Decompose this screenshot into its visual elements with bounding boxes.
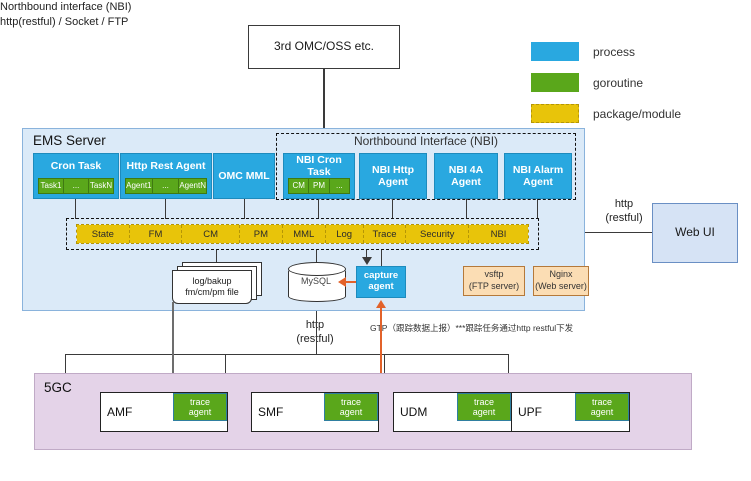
connector-modules-to-mysql — [316, 250, 317, 262]
capture-agent-box[interactable]: capture agent — [356, 266, 406, 298]
connector-httprest-to-modules — [165, 199, 166, 219]
network-function-upf[interactable]: UPF trace agent — [511, 392, 630, 432]
goroutine-agentn: AgentN — [178, 178, 207, 194]
connector-bus-horizontal — [65, 354, 509, 355]
process-nbi-alarm-agent-title: NBI Alarm Agent — [505, 154, 571, 198]
arrow-down-capture-icon — [362, 257, 372, 265]
connector-omcmml-to-modules — [244, 199, 245, 219]
process-nbi-cron-task[interactable]: NBI Cron Task CM PM ... — [283, 153, 355, 199]
trace-agent-upf[interactable]: trace agent — [575, 393, 629, 421]
trace-agent-amf-line2: agent — [189, 407, 212, 417]
legend-item-goroutine: goroutine — [531, 73, 731, 92]
http-restful-middle-line1: http — [290, 318, 340, 332]
connector-nbi4a-to-modules — [466, 199, 467, 219]
third-party-omc-oss-label: 3rd OMC/OSS etc. — [274, 40, 374, 54]
database-cylinder-top — [288, 262, 346, 276]
http-restful-middle-line2: (restful) — [290, 332, 340, 346]
http-restful-middle-label: http (restful) — [290, 318, 340, 347]
network-function-smf-label: SMF — [258, 405, 283, 419]
network-function-smf[interactable]: SMF trace agent — [251, 392, 379, 432]
goroutine-nbi-ellipsis: ... — [329, 178, 350, 194]
trace-agent-upf-line2: agent — [591, 407, 614, 417]
network-function-udm[interactable]: UDM trace agent — [393, 392, 512, 432]
cron-task-goroutines: Task1 ... TaskN — [38, 178, 114, 194]
connector-trace-up-stem — [380, 307, 382, 375]
connector-nbicron-to-modules — [318, 199, 319, 219]
legend-label-goroutine: goroutine — [593, 76, 643, 90]
webui-edge-line2: (restful) — [600, 211, 648, 225]
core-network-title: 5GC — [44, 380, 72, 395]
connector-omc-to-ems — [323, 69, 325, 128]
trace-agent-udm-line2: agent — [473, 407, 496, 417]
process-cron-task[interactable]: Cron Task Task1 ... TaskN — [33, 153, 119, 199]
module-security[interactable]: Security — [406, 225, 469, 243]
trace-agent-smf[interactable]: trace agent — [324, 393, 378, 421]
goroutine-agent1: Agent1 — [125, 178, 152, 194]
module-cm[interactable]: CM — [182, 225, 240, 243]
legend-item-package: package/module — [531, 104, 731, 123]
connector-capture-to-mysql — [346, 281, 356, 283]
third-party-omc-oss-box: 3rd OMC/OSS etc. — [248, 25, 400, 69]
module-nbi[interactable]: NBI — [469, 225, 528, 243]
nginx-server-box: Nginx (Web server) — [533, 266, 589, 296]
module-mml[interactable]: MML — [283, 225, 326, 243]
web-ui-label: Web UI — [675, 226, 715, 240]
web-ui-box[interactable]: Web UI — [652, 203, 738, 263]
webui-edge-label: http (restful) — [600, 197, 648, 226]
process-nbi-cron-task-title: NBI Cron Task — [284, 157, 354, 175]
mysql-database-icon: MySQL — [288, 262, 344, 304]
trace-agent-udm-line1: trace — [474, 397, 494, 407]
trace-agent-udm[interactable]: trace agent — [457, 393, 511, 421]
trace-agent-smf-line1: trace — [341, 397, 361, 407]
connector-modules-to-files — [216, 250, 217, 262]
process-omc-mml[interactable]: OMC MML — [213, 153, 275, 199]
file-sheet-front-icon: log/bakup fm/cm/pm file — [172, 270, 252, 304]
network-function-upf-label: UPF — [518, 405, 542, 419]
nbi-edge-label-line1: Northbound interface (NBI) — [0, 0, 751, 15]
connector-cron-to-modules — [75, 199, 76, 219]
module-log[interactable]: Log — [326, 225, 364, 243]
goroutine-agent-ellipsis: ... — [152, 178, 179, 194]
webui-edge-line1: http — [600, 197, 648, 211]
vsftp-server-box: vsftp (FTP server) — [463, 266, 525, 296]
connector-nbihttp-to-modules — [392, 199, 393, 219]
legend: process goroutine package/module — [531, 42, 731, 135]
gtp-label: GTP（跟踪数据上报）***跟踪任务通过http restful下发 — [370, 322, 573, 334]
process-nbi-4a-agent[interactable]: NBI 4A Agent — [434, 153, 498, 199]
module-fm[interactable]: FM — [130, 225, 183, 243]
connector-modules-to-capture — [381, 250, 382, 266]
arrow-left-mysql-icon — [338, 277, 346, 287]
connector-nbialarm-to-modules — [537, 199, 538, 219]
legend-item-process: process — [531, 42, 731, 61]
vsftp-line1: vsftp — [484, 269, 503, 281]
nginx-line2: (Web server) — [535, 281, 587, 293]
module-pm[interactable]: PM — [240, 225, 283, 243]
network-function-amf[interactable]: AMF trace agent — [100, 392, 228, 432]
goroutine-task-ellipsis: ... — [63, 178, 88, 194]
file-stack: log/bakup fm/cm/pm file — [172, 262, 260, 302]
module-trace[interactable]: Trace — [364, 225, 407, 243]
vsftp-line2: (FTP server) — [469, 281, 519, 293]
file-label-line1: log/bakup — [192, 276, 231, 287]
arrow-up-capture-icon — [376, 300, 386, 308]
goroutine-pm: PM — [308, 178, 328, 194]
trace-agent-amf-line1: trace — [190, 397, 210, 407]
goroutine-task1: Task1 — [38, 178, 63, 194]
capture-agent-line2: agent — [368, 282, 393, 293]
network-function-udm-label: UDM — [400, 405, 427, 419]
package-swatch — [531, 104, 579, 123]
nbi-group-title: Northbound Interface (NBI) — [276, 134, 576, 149]
nginx-line1: Nginx — [549, 269, 572, 281]
mysql-label: MySQL — [288, 276, 344, 286]
process-nbi-http-agent[interactable]: NBI Http Agent — [359, 153, 427, 199]
process-cron-task-title: Cron Task — [34, 157, 118, 175]
process-nbi-http-agent-title: NBI Http Agent — [360, 154, 426, 198]
trace-agent-smf-line2: agent — [340, 407, 363, 417]
file-label-line2: fm/cm/pm file — [185, 287, 239, 298]
goroutine-swatch — [531, 73, 579, 92]
process-nbi-alarm-agent[interactable]: NBI Alarm Agent — [504, 153, 572, 199]
module-state[interactable]: State — [77, 225, 130, 243]
process-http-rest-agent[interactable]: Http Rest Agent Agent1 ... AgentN — [120, 153, 212, 199]
goroutine-cm: CM — [288, 178, 308, 194]
process-http-rest-agent-title: Http Rest Agent — [121, 157, 211, 175]
process-swatch — [531, 42, 579, 61]
modules-bar: State FM CM PM MML Log Trace Security NB… — [76, 224, 529, 244]
trace-agent-upf-line1: trace — [592, 397, 612, 407]
connector-ems-to-webui — [585, 232, 652, 233]
legend-label-process: process — [593, 45, 635, 59]
process-nbi-4a-agent-title: NBI 4A Agent — [435, 154, 497, 198]
trace-agent-amf[interactable]: trace agent — [173, 393, 227, 421]
network-function-amf-label: AMF — [107, 405, 132, 419]
ems-server-title: EMS Server — [33, 133, 106, 148]
process-omc-mml-title: OMC MML — [214, 154, 274, 198]
nbi-cron-task-goroutines: CM PM ... — [288, 178, 350, 194]
goroutine-taskn: TaskN — [88, 178, 114, 194]
http-rest-agent-goroutines: Agent1 ... AgentN — [125, 178, 207, 194]
legend-label-package: package/module — [593, 107, 681, 121]
connector-ems-bus-stem — [316, 311, 317, 355]
